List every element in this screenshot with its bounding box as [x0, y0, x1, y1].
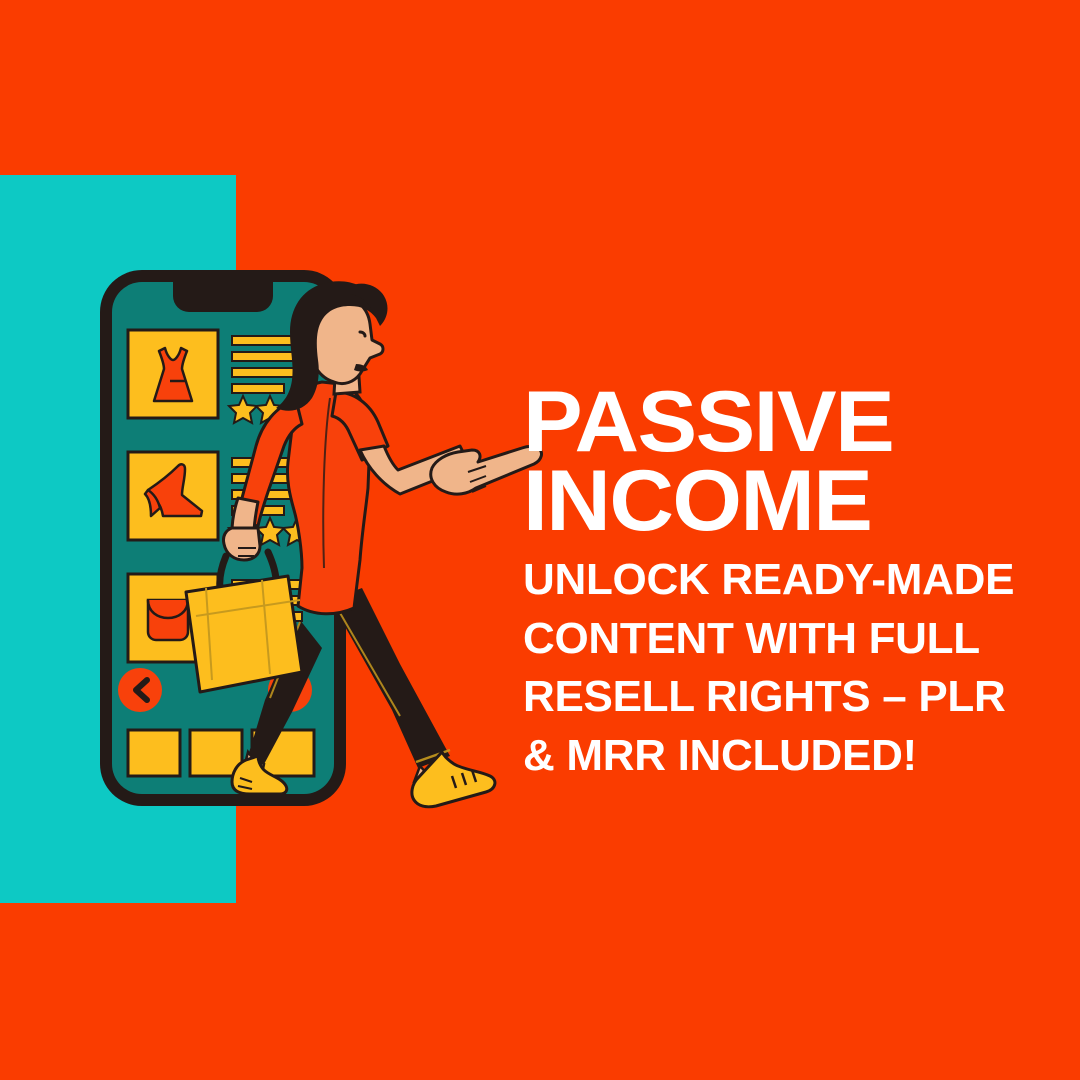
bottom-tile-1	[128, 730, 180, 776]
bottom-tiles	[128, 730, 314, 776]
front-leg	[330, 588, 450, 768]
product-tile-heel	[128, 452, 218, 540]
phone-notch	[173, 282, 273, 312]
page-title: PASSIVE INCOME	[523, 383, 1064, 541]
back-button	[118, 668, 162, 712]
headline-line-1: PASSIVE	[523, 383, 1064, 462]
illustration-scene	[0, 0, 560, 1080]
poster-canvas: PASSIVE INCOME UNLOCK READY-MADE CONTENT…	[0, 0, 1080, 1080]
product-tile-dress	[128, 330, 218, 418]
shopping-bag	[186, 576, 302, 692]
subheadline: UNLOCK READY-MADE CONTENT WITH FULL RESE…	[523, 551, 1023, 785]
headline-line-2: INCOME	[523, 462, 1064, 541]
text-block: PASSIVE INCOME UNLOCK READY-MADE CONTENT…	[523, 383, 1043, 785]
